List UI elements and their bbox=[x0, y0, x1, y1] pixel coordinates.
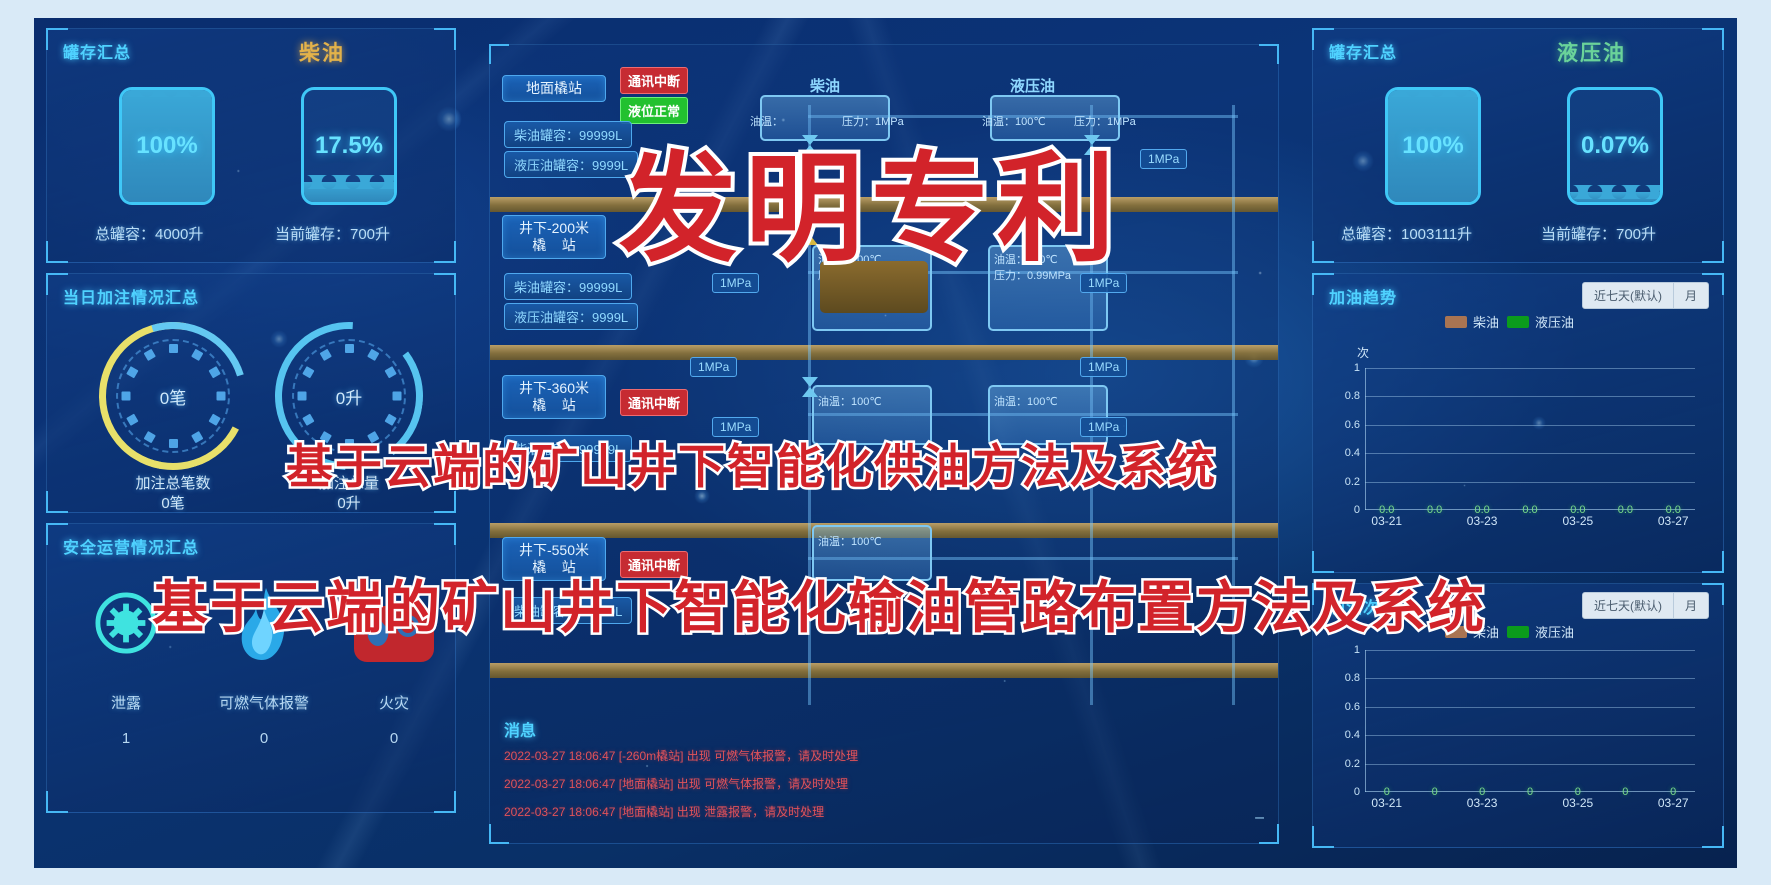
total-capacity-label: 总罐容：1003111升 bbox=[1341, 223, 1472, 244]
safety-value-0: 1 bbox=[51, 730, 201, 747]
ytick-4: 0.8 bbox=[1345, 672, 1360, 684]
oil-column-label-1: 液压油 bbox=[1010, 75, 1055, 96]
datalabel-5: 0 bbox=[1622, 786, 1628, 798]
watermark-line-1: 基于云端的矿山井下智能化供油方法及系统 bbox=[286, 428, 1217, 497]
ytick-5: 1 bbox=[1354, 644, 1360, 656]
xtick-0: 03-21 bbox=[1371, 514, 1402, 528]
panel-title: 罐存汇总 bbox=[1329, 39, 1397, 63]
panel-title: 加油趋势 bbox=[1329, 284, 1397, 308]
legend-swatch-hydraulic bbox=[1507, 626, 1529, 638]
range-tab-week[interactable]: 近七天(默认) bbox=[1583, 283, 1673, 308]
total-capacity-label: 总罐容：4000升 bbox=[95, 223, 203, 244]
range-tabs-trend[interactable]: 近七天(默认) 月 bbox=[1582, 282, 1709, 309]
y-axis-unit: 次 bbox=[1357, 344, 1369, 361]
chart-legend-trend: 柴油 液压油 bbox=[1445, 312, 1574, 331]
safety-value-1: 0 bbox=[189, 730, 339, 747]
total-percent: 100% bbox=[1388, 132, 1478, 160]
range-tab-month[interactable]: 月 bbox=[1673, 593, 1708, 618]
legend-label-diesel: 柴油 bbox=[1473, 312, 1499, 331]
xtick-2: 03-25 bbox=[1562, 514, 1593, 528]
message-line-1: 2022-03-27 18:06:47 [地面橇站] 出现 可燃气体报警，请及时… bbox=[504, 775, 848, 792]
panel-hydraulic-stock: 罐存汇总 液压油 100% 0.07% 总罐容：1003111升 当前罐存：70… bbox=[1312, 28, 1724, 263]
ytick-0: 0 bbox=[1354, 786, 1360, 798]
oil-type-label: 柴油 bbox=[299, 37, 345, 67]
legend-item-diesel[interactable]: 柴油 bbox=[1445, 312, 1499, 331]
xtick-1: 03-23 bbox=[1467, 514, 1498, 528]
total-capacity-tank: 100% bbox=[1385, 87, 1481, 205]
legend-item-hydraulic[interactable]: 液压油 bbox=[1507, 622, 1574, 641]
panel-diesel-stock: 罐存汇总 柴油 100% 17.5% 总罐容：4000升 当前罐存：700升 bbox=[46, 28, 456, 263]
current-stock-label: 当前罐存：700升 bbox=[1541, 223, 1656, 244]
reading-10: 油温：100℃ bbox=[818, 533, 882, 549]
xtick-3: 03-27 bbox=[1658, 796, 1689, 810]
messages-title: 消息 bbox=[504, 717, 536, 741]
rock-seam bbox=[490, 663, 1278, 678]
legend-item-hydraulic[interactable]: 液压油 bbox=[1507, 312, 1574, 331]
message-line-0: 2022-03-27 18:06:47 [-260m橇站] 出现 可燃气体报警，… bbox=[504, 747, 858, 764]
xtick-0: 03-21 bbox=[1371, 796, 1402, 810]
oil-column-label-0: 柴油 bbox=[810, 75, 840, 96]
panel-title: 当日加注情况汇总 bbox=[63, 284, 199, 308]
gauge-caption-value: 0笔 bbox=[161, 495, 184, 512]
watermark-line-2: 基于云端的矿山井下智能化输油管路布置方法及系统 bbox=[152, 563, 1486, 644]
oil-type-label: 液压油 bbox=[1557, 37, 1626, 67]
station-capacity-1-0: 柴油罐容：99999L bbox=[504, 273, 632, 300]
station-label-2[interactable]: 井下-360米 橇 站 bbox=[502, 375, 606, 419]
chart-plot-count: 1 0.8 0.6 0.4 0.2 0 0 0 0 0 0 0 0 03-21 … bbox=[1365, 650, 1695, 792]
xtick-1: 03-23 bbox=[1467, 796, 1498, 810]
rock-seam bbox=[490, 345, 1278, 360]
gauge-value: 0笔 bbox=[99, 322, 247, 470]
datalabel-1: 0 bbox=[1432, 786, 1438, 798]
gauge-caption-count: 加注总笔数 0笔 bbox=[88, 474, 258, 514]
pressure-tag-3: 1MPa bbox=[690, 357, 737, 377]
current-stock-label: 当前罐存：700升 bbox=[275, 223, 390, 244]
station-capacity-0-0: 柴油罐容：99999L bbox=[504, 121, 632, 148]
message-line-2: 2022-03-27 18:06:47 [地面橇站] 出现 泄露报警，请及时处理 bbox=[504, 803, 824, 820]
pressure-tag-0: 1MPa bbox=[1140, 149, 1187, 169]
legend-swatch-diesel bbox=[1445, 316, 1467, 328]
panel-title: 罐存汇总 bbox=[63, 39, 131, 63]
dashboard-screen: 罐存汇总 柴油 100% 17.5% 总罐容：4000升 当前罐存：700升 当… bbox=[34, 18, 1737, 868]
reading-9: 油温：100℃ bbox=[994, 393, 1058, 409]
watermark-patent: 发明专利 bbox=[619, 113, 1123, 284]
ytick-3: 0.6 bbox=[1345, 701, 1360, 713]
ytick-3: 0.6 bbox=[1345, 419, 1360, 431]
gauge-refuel-count: 0笔 bbox=[99, 322, 247, 470]
range-tab-week[interactable]: 近七天(默认) bbox=[1583, 593, 1673, 618]
range-tabs-count[interactable]: 近七天(默认) 月 bbox=[1582, 592, 1709, 619]
station-badge-0-0: 通讯中断 bbox=[620, 67, 688, 94]
safety-label-2: 火灾 bbox=[319, 692, 469, 713]
xtick-2: 03-25 bbox=[1562, 796, 1593, 810]
valve-icon bbox=[800, 375, 820, 399]
hydraulic-percent: 0.07% bbox=[1570, 132, 1660, 160]
gauge-caption-value: 0升 bbox=[337, 495, 360, 512]
safety-label-1: 可燃气体报警 bbox=[189, 692, 339, 713]
safety-value-2: 0 bbox=[319, 730, 469, 747]
station-badge-2-0: 通讯中断 bbox=[620, 389, 688, 416]
ytick-1: 0.2 bbox=[1345, 758, 1360, 770]
station-label-1[interactable]: 井下-200米 橇 站 bbox=[502, 215, 606, 259]
ytick-1: 0.2 bbox=[1345, 476, 1360, 488]
station-capacity-1-1: 液压油罐容：9999L bbox=[504, 303, 638, 330]
ytick-5: 1 bbox=[1354, 362, 1360, 374]
pressure-tag-4: 1MPa bbox=[1080, 357, 1127, 377]
total-capacity-tank: 100% bbox=[119, 87, 215, 205]
range-tab-month[interactable]: 月 bbox=[1673, 283, 1708, 308]
datalabel-3: 0 bbox=[1527, 786, 1533, 798]
chart-plot-trend: 1 0.8 0.6 0.4 0.2 0 0.0 0.0 0.0 0.0 0.0 … bbox=[1365, 368, 1695, 510]
station-label-0[interactable]: 地面橇站 bbox=[502, 75, 606, 102]
datalabel-3: 0.0 bbox=[1522, 504, 1537, 516]
legend-label-hydraulic: 液压油 bbox=[1535, 622, 1574, 641]
panel-refuel-trend: 加油趋势 近七天(默认) 月 柴油 液压油 次 1 0.8 0.6 0.4 0.… bbox=[1312, 273, 1724, 573]
ytick-4: 0.8 bbox=[1345, 390, 1360, 402]
safety-label-0: 泄露 bbox=[51, 692, 201, 713]
xtick-3: 03-27 bbox=[1658, 514, 1689, 528]
ytick-2: 0.4 bbox=[1345, 447, 1360, 459]
panel-title: 安全运营情况汇总 bbox=[63, 534, 199, 558]
ytick-2: 0.4 bbox=[1345, 729, 1360, 741]
collapse-icon[interactable]: – bbox=[1255, 809, 1264, 827]
reading-8: 油温：100℃ bbox=[818, 393, 882, 409]
legend-swatch-hydraulic bbox=[1507, 316, 1529, 328]
hydraulic-level-tank: 0.07% bbox=[1567, 87, 1663, 205]
ytick-0: 0 bbox=[1354, 504, 1360, 516]
diesel-level-tank: 17.5% bbox=[301, 87, 397, 205]
diesel-percent: 17.5% bbox=[304, 132, 394, 160]
datalabel-1: 0.0 bbox=[1427, 504, 1442, 516]
datalabel-5: 0.0 bbox=[1618, 504, 1633, 516]
leak-icon bbox=[95, 592, 157, 654]
legend-label-hydraulic: 液压油 bbox=[1535, 312, 1574, 331]
total-percent: 100% bbox=[122, 132, 212, 160]
gauge-caption-text: 加注总笔数 bbox=[135, 475, 210, 492]
